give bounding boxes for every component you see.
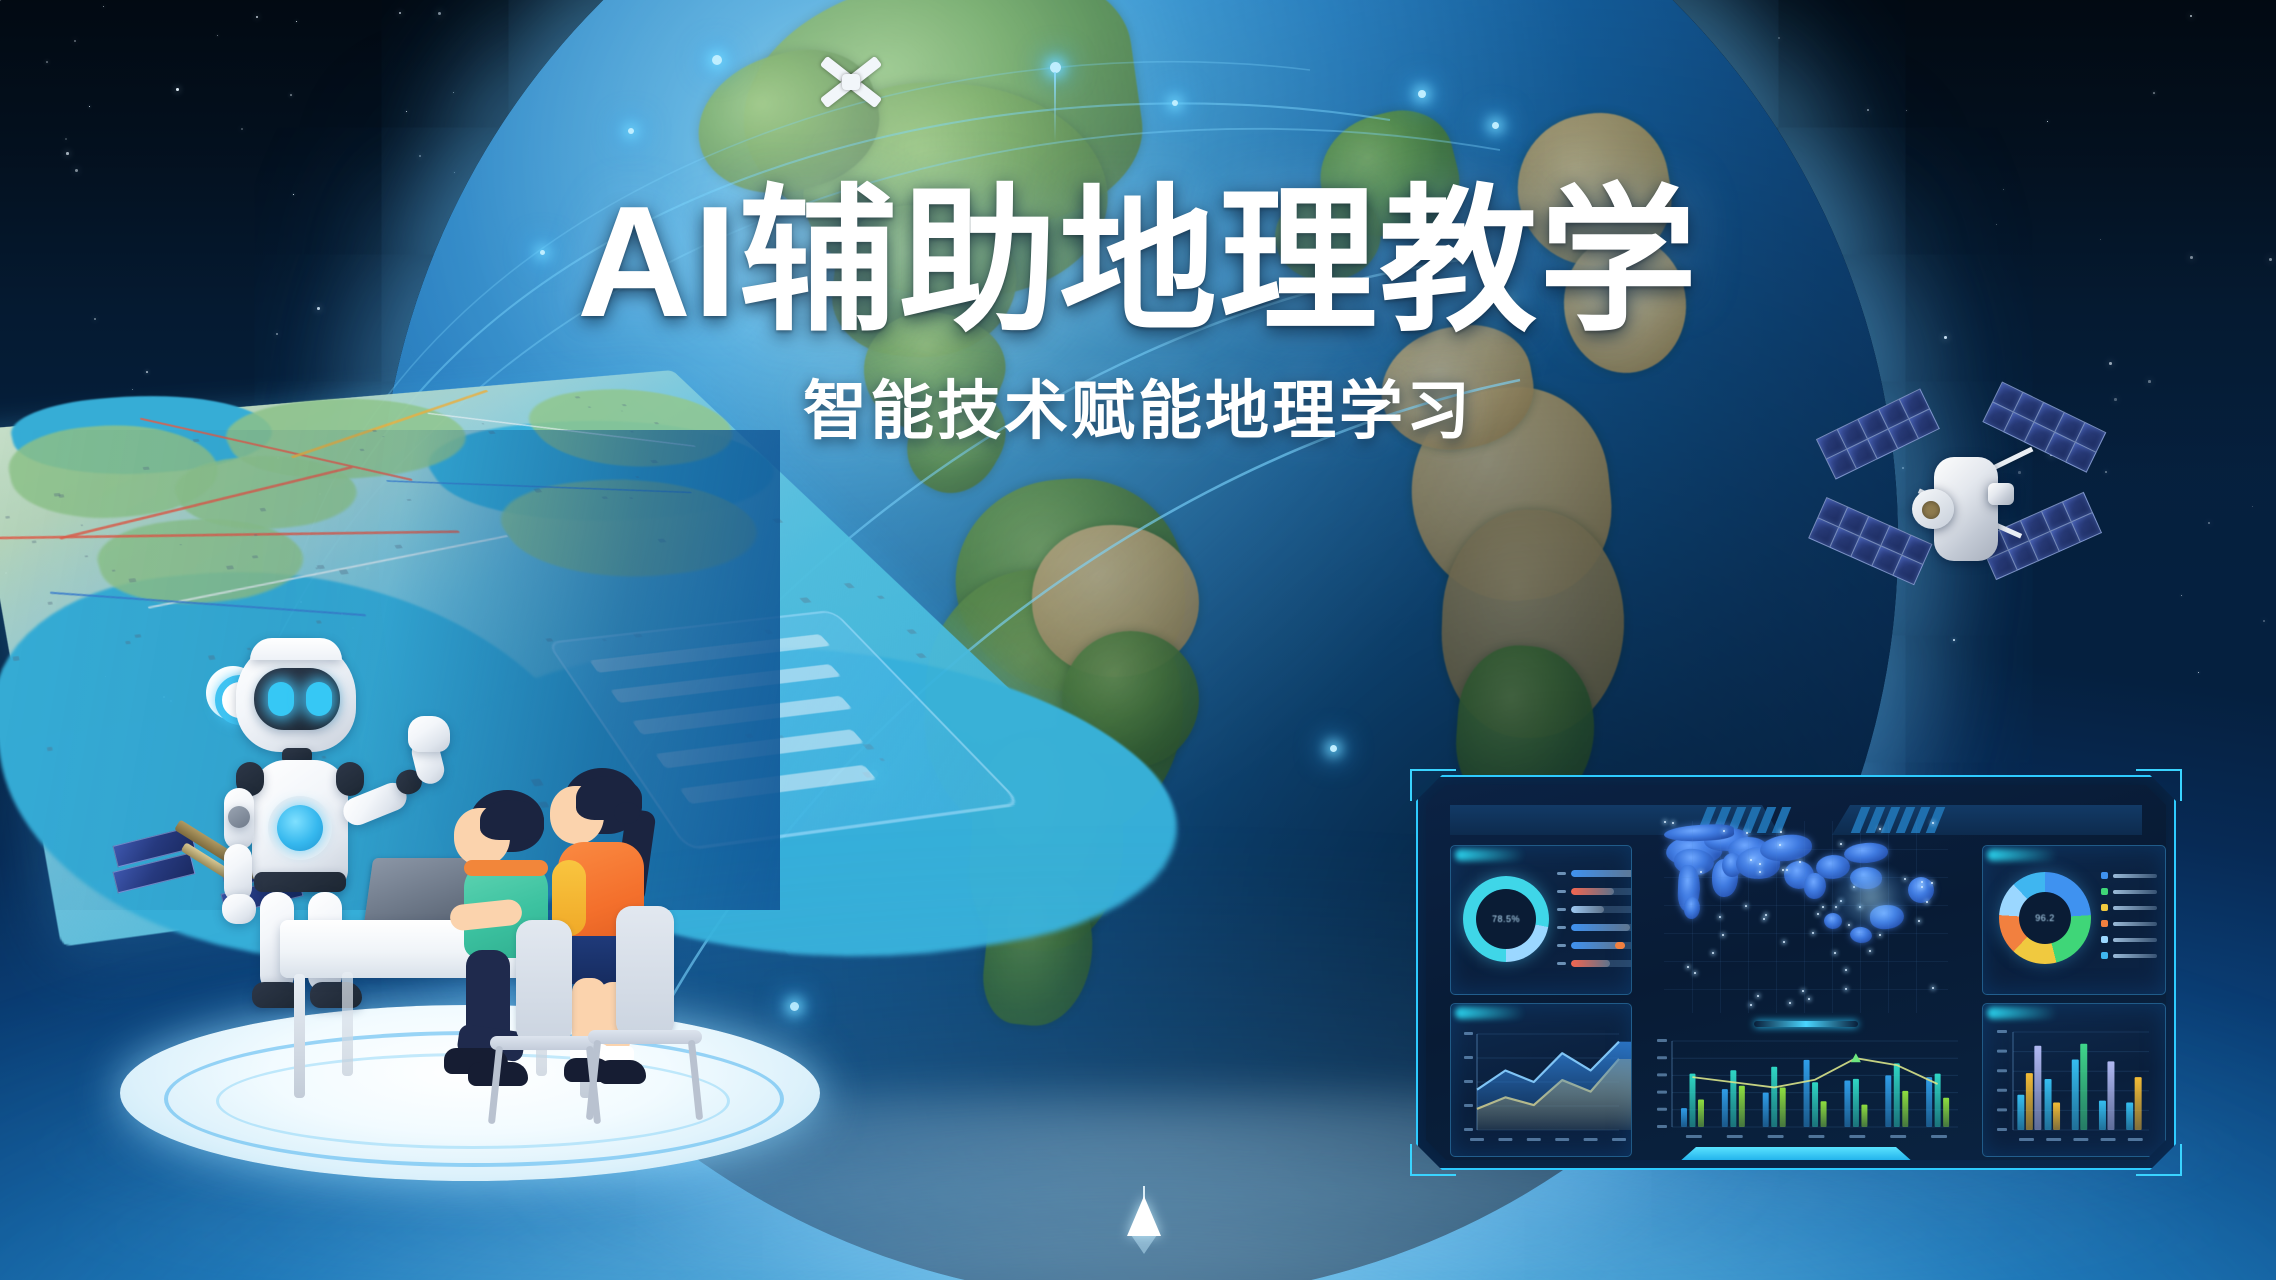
map-data-point — [1921, 881, 1923, 883]
map-building — [84, 555, 88, 557]
map-data-point — [1694, 972, 1696, 974]
map-data-point — [1879, 828, 1881, 830]
map-building — [339, 569, 349, 574]
map-building — [5, 516, 10, 519]
map-data-point — [1780, 831, 1782, 833]
network-node — [1172, 100, 1178, 106]
map-grid-line — [1664, 877, 1948, 878]
map-data-point — [1750, 1004, 1752, 1006]
legend-swatch — [2101, 920, 2108, 927]
map-data-point — [1712, 952, 1714, 954]
stacked-area-chart — [1451, 1004, 1631, 1156]
bar-label — [1557, 908, 1566, 911]
ring-gauge: 78.5% — [1463, 876, 1549, 962]
bar-track — [1571, 924, 1632, 931]
map-building — [58, 494, 64, 498]
map-data-point — [1931, 882, 1933, 884]
map-data-point — [1926, 901, 1928, 903]
bar-label — [1557, 944, 1566, 947]
map-building — [254, 534, 258, 536]
bar-label — [1557, 872, 1566, 875]
map-data-point — [1765, 914, 1767, 916]
legend-swatch — [2101, 904, 2108, 911]
dashboard-body: 78.5% 96.2 — [1426, 785, 2166, 1160]
bar-row — [1557, 888, 1632, 895]
bar-label — [1557, 890, 1566, 893]
map-grid-line — [1664, 961, 1948, 962]
robot-eye-right — [306, 682, 332, 716]
map-building — [226, 565, 234, 569]
classroom-scene — [170, 620, 810, 1180]
world-map-hotspot — [1832, 867, 1910, 927]
panel-area[interactable] — [1450, 1003, 1632, 1157]
map-building — [772, 518, 783, 523]
robot-shoulder-right — [336, 762, 364, 796]
chair-leg — [488, 1046, 503, 1124]
map-building — [252, 555, 259, 558]
bar-fill — [1571, 870, 1632, 877]
robot-waist-band — [254, 872, 346, 892]
map-data-point — [1834, 952, 1836, 954]
map-data-point — [1918, 920, 1920, 922]
legend-item — [2101, 888, 2157, 895]
legend-item — [2101, 920, 2157, 927]
bar-fill — [1571, 906, 1604, 913]
geo-data-dashboard[interactable]: 78.5% 96.2 — [1416, 775, 2176, 1170]
grouped-column-chart — [1642, 1023, 1970, 1155]
page-subtitle: 智能技术赋能地理学习 — [0, 360, 2276, 452]
legend-swatch — [2101, 872, 2108, 879]
map-building — [799, 597, 811, 603]
legend-item — [2101, 872, 2157, 879]
chair — [568, 906, 724, 1116]
map-building — [601, 496, 608, 499]
map-building — [394, 545, 403, 549]
title-block: AI辅助地理教学 智能技术赋能地理学习 — [0, 180, 2276, 452]
map-data-point — [1799, 861, 1801, 863]
map-grid-line — [1664, 933, 1948, 934]
legend-item — [2101, 904, 2157, 911]
bar-label — [1557, 962, 1566, 965]
comparison-bar-chart — [1983, 1004, 2165, 1156]
legend-item — [2101, 936, 2157, 943]
map-data-point — [1759, 871, 1761, 873]
chair-back — [516, 920, 572, 1044]
panel-donut[interactable]: 96.2 — [1982, 845, 2166, 995]
chair-leg — [688, 1040, 703, 1120]
chair-back — [616, 906, 674, 1038]
panel-glow — [1987, 849, 2057, 861]
map-building — [32, 540, 37, 543]
legend-swatch — [2101, 936, 2108, 943]
legend-label — [2113, 922, 2157, 926]
desk-leg — [294, 974, 305, 1098]
map-data-point — [1786, 869, 1788, 871]
map-data-point — [1932, 822, 1934, 824]
horizontal-bar-list — [1557, 870, 1629, 980]
map-data-point — [1783, 941, 1785, 943]
bar-fill — [1571, 888, 1614, 895]
node-tether — [1054, 72, 1056, 142]
bar-track — [1571, 888, 1632, 895]
map-data-point — [1904, 878, 1906, 880]
map-building — [81, 524, 84, 526]
map-data-point — [1808, 998, 1810, 1000]
panel-columns[interactable] — [1642, 1023, 1970, 1155]
map-data-point — [1723, 830, 1725, 832]
map-data-point — [1840, 843, 1842, 845]
satellite-module — [1988, 483, 2014, 505]
legend-label — [2113, 906, 2157, 910]
map-data-point — [1782, 869, 1784, 871]
robot-hand-left — [222, 894, 256, 924]
legend-swatch — [2101, 952, 2108, 959]
map-building — [906, 629, 917, 634]
map-data-point — [1757, 995, 1759, 997]
chair-leg — [586, 1040, 601, 1120]
map-data-point — [1822, 906, 1824, 908]
map-building — [47, 747, 53, 751]
chair-seat — [588, 1030, 702, 1044]
page-title: AI辅助地理教学 — [0, 180, 2276, 344]
panel-glow — [1455, 849, 1525, 861]
satellite-antenna-feed — [1922, 501, 1940, 519]
network-node — [1418, 90, 1426, 98]
donut-center: 96.2 — [2019, 892, 2071, 944]
girl-hair-tie — [614, 802, 640, 824]
map-building — [916, 653, 927, 658]
map-data-point — [1869, 950, 1871, 952]
map-data-point — [1763, 918, 1765, 920]
bar-row — [1557, 924, 1632, 931]
bar-track — [1571, 870, 1632, 877]
robot-elbow-left — [228, 806, 250, 828]
legend-label — [2113, 938, 2157, 942]
panel-bars[interactable] — [1982, 1003, 2166, 1157]
category-donut: 96.2 — [1999, 872, 2091, 964]
map-grid-line — [1664, 849, 1948, 850]
map-building — [260, 508, 267, 512]
world-map-panel[interactable] — [1664, 821, 1948, 1013]
poster-canvas: 78.5% 96.2 — [0, 0, 2276, 1280]
map-building — [315, 567, 318, 569]
legend-label — [2113, 874, 2157, 878]
boy-hair-top — [480, 800, 544, 840]
bar-marker — [1615, 942, 1625, 949]
boy-collar — [464, 860, 548, 876]
map-building — [13, 656, 20, 661]
panel-gauge[interactable]: 78.5% — [1450, 845, 1632, 995]
donut-value: 96.2 — [2035, 913, 2055, 923]
map-grid-line — [1664, 989, 1948, 990]
network-node — [712, 55, 722, 65]
legend-item — [2101, 952, 2157, 959]
north-arrow-compass — [1122, 1186, 1166, 1256]
bar-row — [1557, 906, 1632, 913]
map-data-point — [1664, 821, 1666, 823]
bar-fill — [1571, 924, 1630, 931]
legend-swatch — [2101, 888, 2108, 895]
map-building — [134, 634, 141, 638]
map-building — [844, 583, 855, 588]
robot-eye-left — [268, 682, 294, 716]
map-data-point — [1687, 966, 1689, 968]
map-data-point — [1879, 934, 1881, 936]
network-node — [1330, 745, 1337, 752]
map-building — [125, 641, 131, 645]
robot-head-crest — [250, 638, 342, 660]
map-data-point — [1789, 1002, 1791, 1004]
map-building — [128, 578, 136, 582]
map-building — [635, 476, 639, 478]
donut-legend — [2101, 872, 2161, 972]
map-building — [629, 497, 633, 499]
bar-track — [1571, 906, 1632, 913]
gauge-center: 78.5% — [1476, 889, 1536, 949]
legend-label — [2113, 890, 2157, 894]
map-data-point — [1779, 844, 1781, 846]
network-node — [628, 128, 634, 134]
map-data-point — [1672, 822, 1674, 824]
network-node — [1492, 122, 1499, 129]
gauge-value: 78.5% — [1492, 914, 1520, 924]
bar-label — [1557, 926, 1566, 929]
robot-chest-core — [268, 796, 332, 860]
legend-label — [2113, 954, 2157, 958]
map-data-point — [1921, 886, 1923, 888]
map-region — [1849, 926, 1873, 944]
compass-north-wing — [1127, 1196, 1161, 1236]
map-building — [112, 570, 116, 572]
map-data-point — [1750, 859, 1752, 861]
desk-leg — [342, 972, 353, 1076]
bar-track — [1571, 960, 1632, 967]
map-data-point — [1700, 871, 1702, 873]
bar-row — [1557, 870, 1632, 877]
bar-row — [1557, 942, 1632, 949]
map-data-point — [1845, 969, 1847, 971]
map-building — [407, 499, 412, 501]
map-building — [47, 601, 52, 604]
map-data-point — [1759, 863, 1761, 865]
map-building — [143, 467, 150, 471]
bar-track — [1571, 942, 1632, 949]
map-data-point — [1848, 924, 1850, 926]
bar-row — [1557, 960, 1632, 967]
map-building — [877, 595, 885, 599]
map-region — [1843, 841, 1888, 864]
bar-fill — [1571, 960, 1610, 967]
robot-hand-right — [408, 716, 450, 752]
map-data-point — [1817, 913, 1819, 915]
map-data-point — [1722, 934, 1724, 936]
cubesat-satellite-icon — [820, 50, 882, 112]
